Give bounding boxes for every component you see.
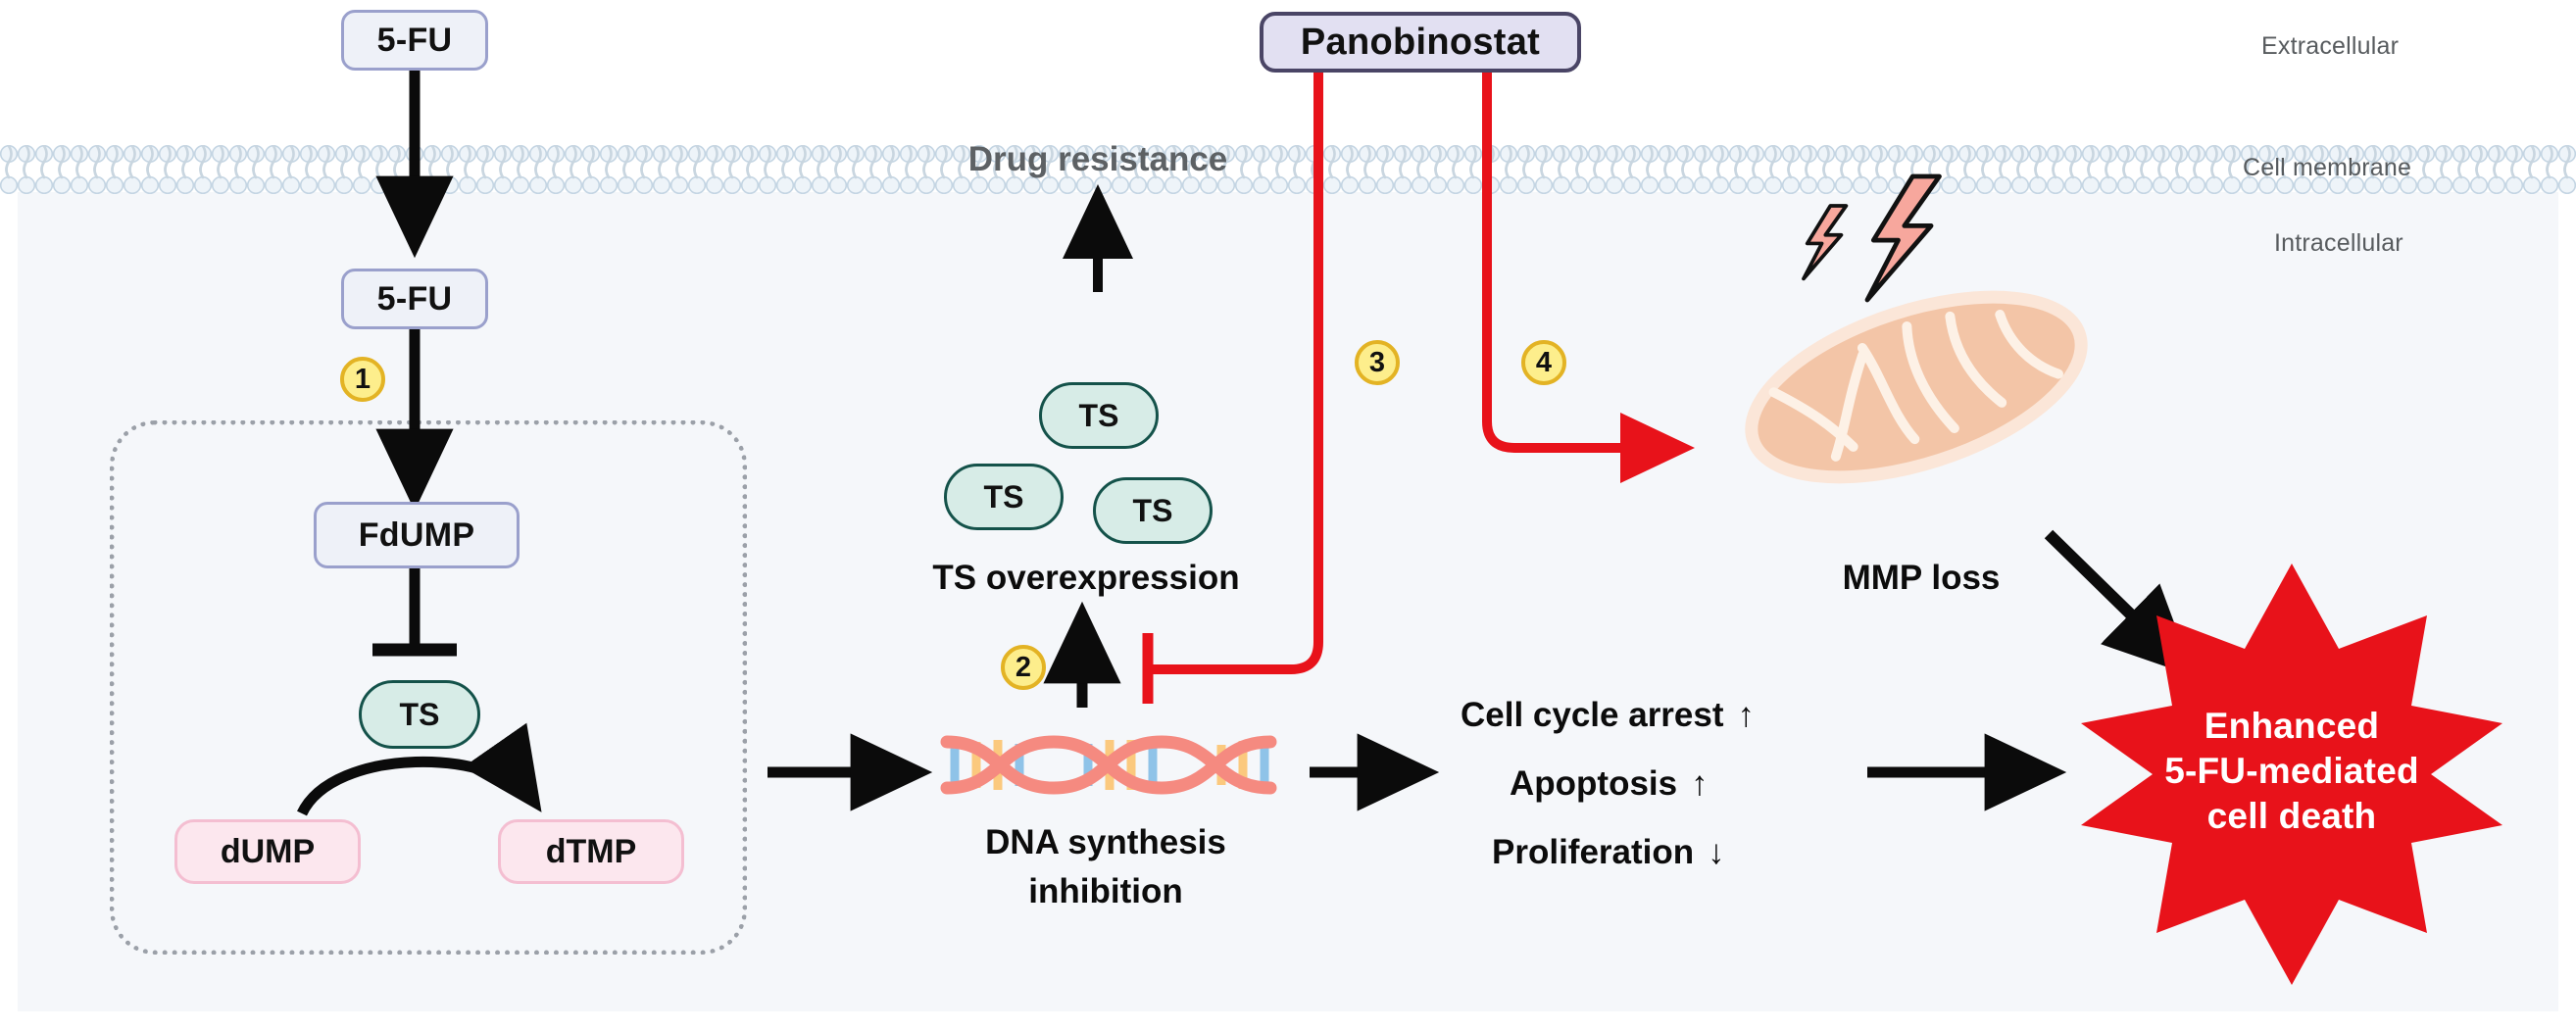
badge-step-1[interactable]: 1 — [340, 357, 385, 402]
badge-step-3[interactable]: 3 — [1355, 340, 1400, 385]
node-dtmp[interactable]: dTMP — [498, 819, 684, 884]
outcome-direction-arrow: ↑ — [1724, 696, 1756, 734]
node-dump[interactable]: dUMP — [174, 819, 361, 884]
cell-death-line2: 5-FU-mediated — [2105, 749, 2478, 794]
node-panobinostat[interactable]: Panobinostat — [1260, 12, 1581, 73]
label-mmp-loss: MMP loss — [1843, 559, 2001, 598]
lightning-bolt-small-icon — [1804, 206, 1846, 278]
mitochondria-icon — [1729, 262, 2103, 514]
outcome-cell-cycle-arrest: Cell cycle arrest↑ — [1461, 696, 1755, 735]
badge-step-4[interactable]: 4 — [1521, 340, 1566, 385]
label-dna-synthesis-line1: DNA synthesis — [985, 823, 1226, 862]
ts-cluster-unit-left[interactable]: TS — [944, 464, 1064, 530]
dna-helix-icon — [947, 740, 1270, 790]
node-ts-enzyme[interactable]: TS — [359, 680, 480, 749]
red-path-panobinostat-to-mitochondria — [1487, 57, 1681, 448]
label-ts-overexpression: TS overexpression — [932, 559, 1239, 598]
node-fdump[interactable]: FdUMP — [314, 502, 520, 568]
cell-death-line3: cell death — [2105, 794, 2478, 839]
ts-cluster-unit-top[interactable]: TS — [1039, 382, 1159, 449]
cell-death-line1: Enhanced — [2105, 704, 2478, 749]
ts-cluster-unit-right[interactable]: TS — [1093, 477, 1213, 544]
outcome-text: Cell cycle arrest — [1461, 696, 1724, 734]
label-drug-resistance: Drug resistance — [968, 140, 1228, 179]
outcome-text: Proliferation — [1492, 833, 1694, 871]
node-5fu-extracellular[interactable]: 5-FU — [341, 10, 488, 71]
label-dna-synthesis-line2: inhibition — [1028, 872, 1182, 911]
badge-step-2[interactable]: 2 — [1001, 645, 1046, 690]
outcome-direction-arrow: ↓ — [1694, 833, 1725, 871]
arrow-dump-to-dtmp — [302, 761, 534, 813]
diagram-canvas: Extracellular Cell membrane Intracellula… — [0, 0, 2576, 1031]
node-5fu-intracellular[interactable]: 5-FU — [341, 269, 488, 329]
outcome-direction-arrow: ↑ — [1677, 764, 1709, 803]
outcome-proliferation: Proliferation↓ — [1492, 833, 1725, 872]
cell-death-label: Enhanced 5-FU-mediated cell death — [2105, 704, 2478, 839]
outcome-apoptosis: Apoptosis↑ — [1510, 764, 1709, 804]
outcome-text: Apoptosis — [1510, 764, 1677, 803]
lightning-bolt-large-icon — [1867, 176, 1940, 300]
